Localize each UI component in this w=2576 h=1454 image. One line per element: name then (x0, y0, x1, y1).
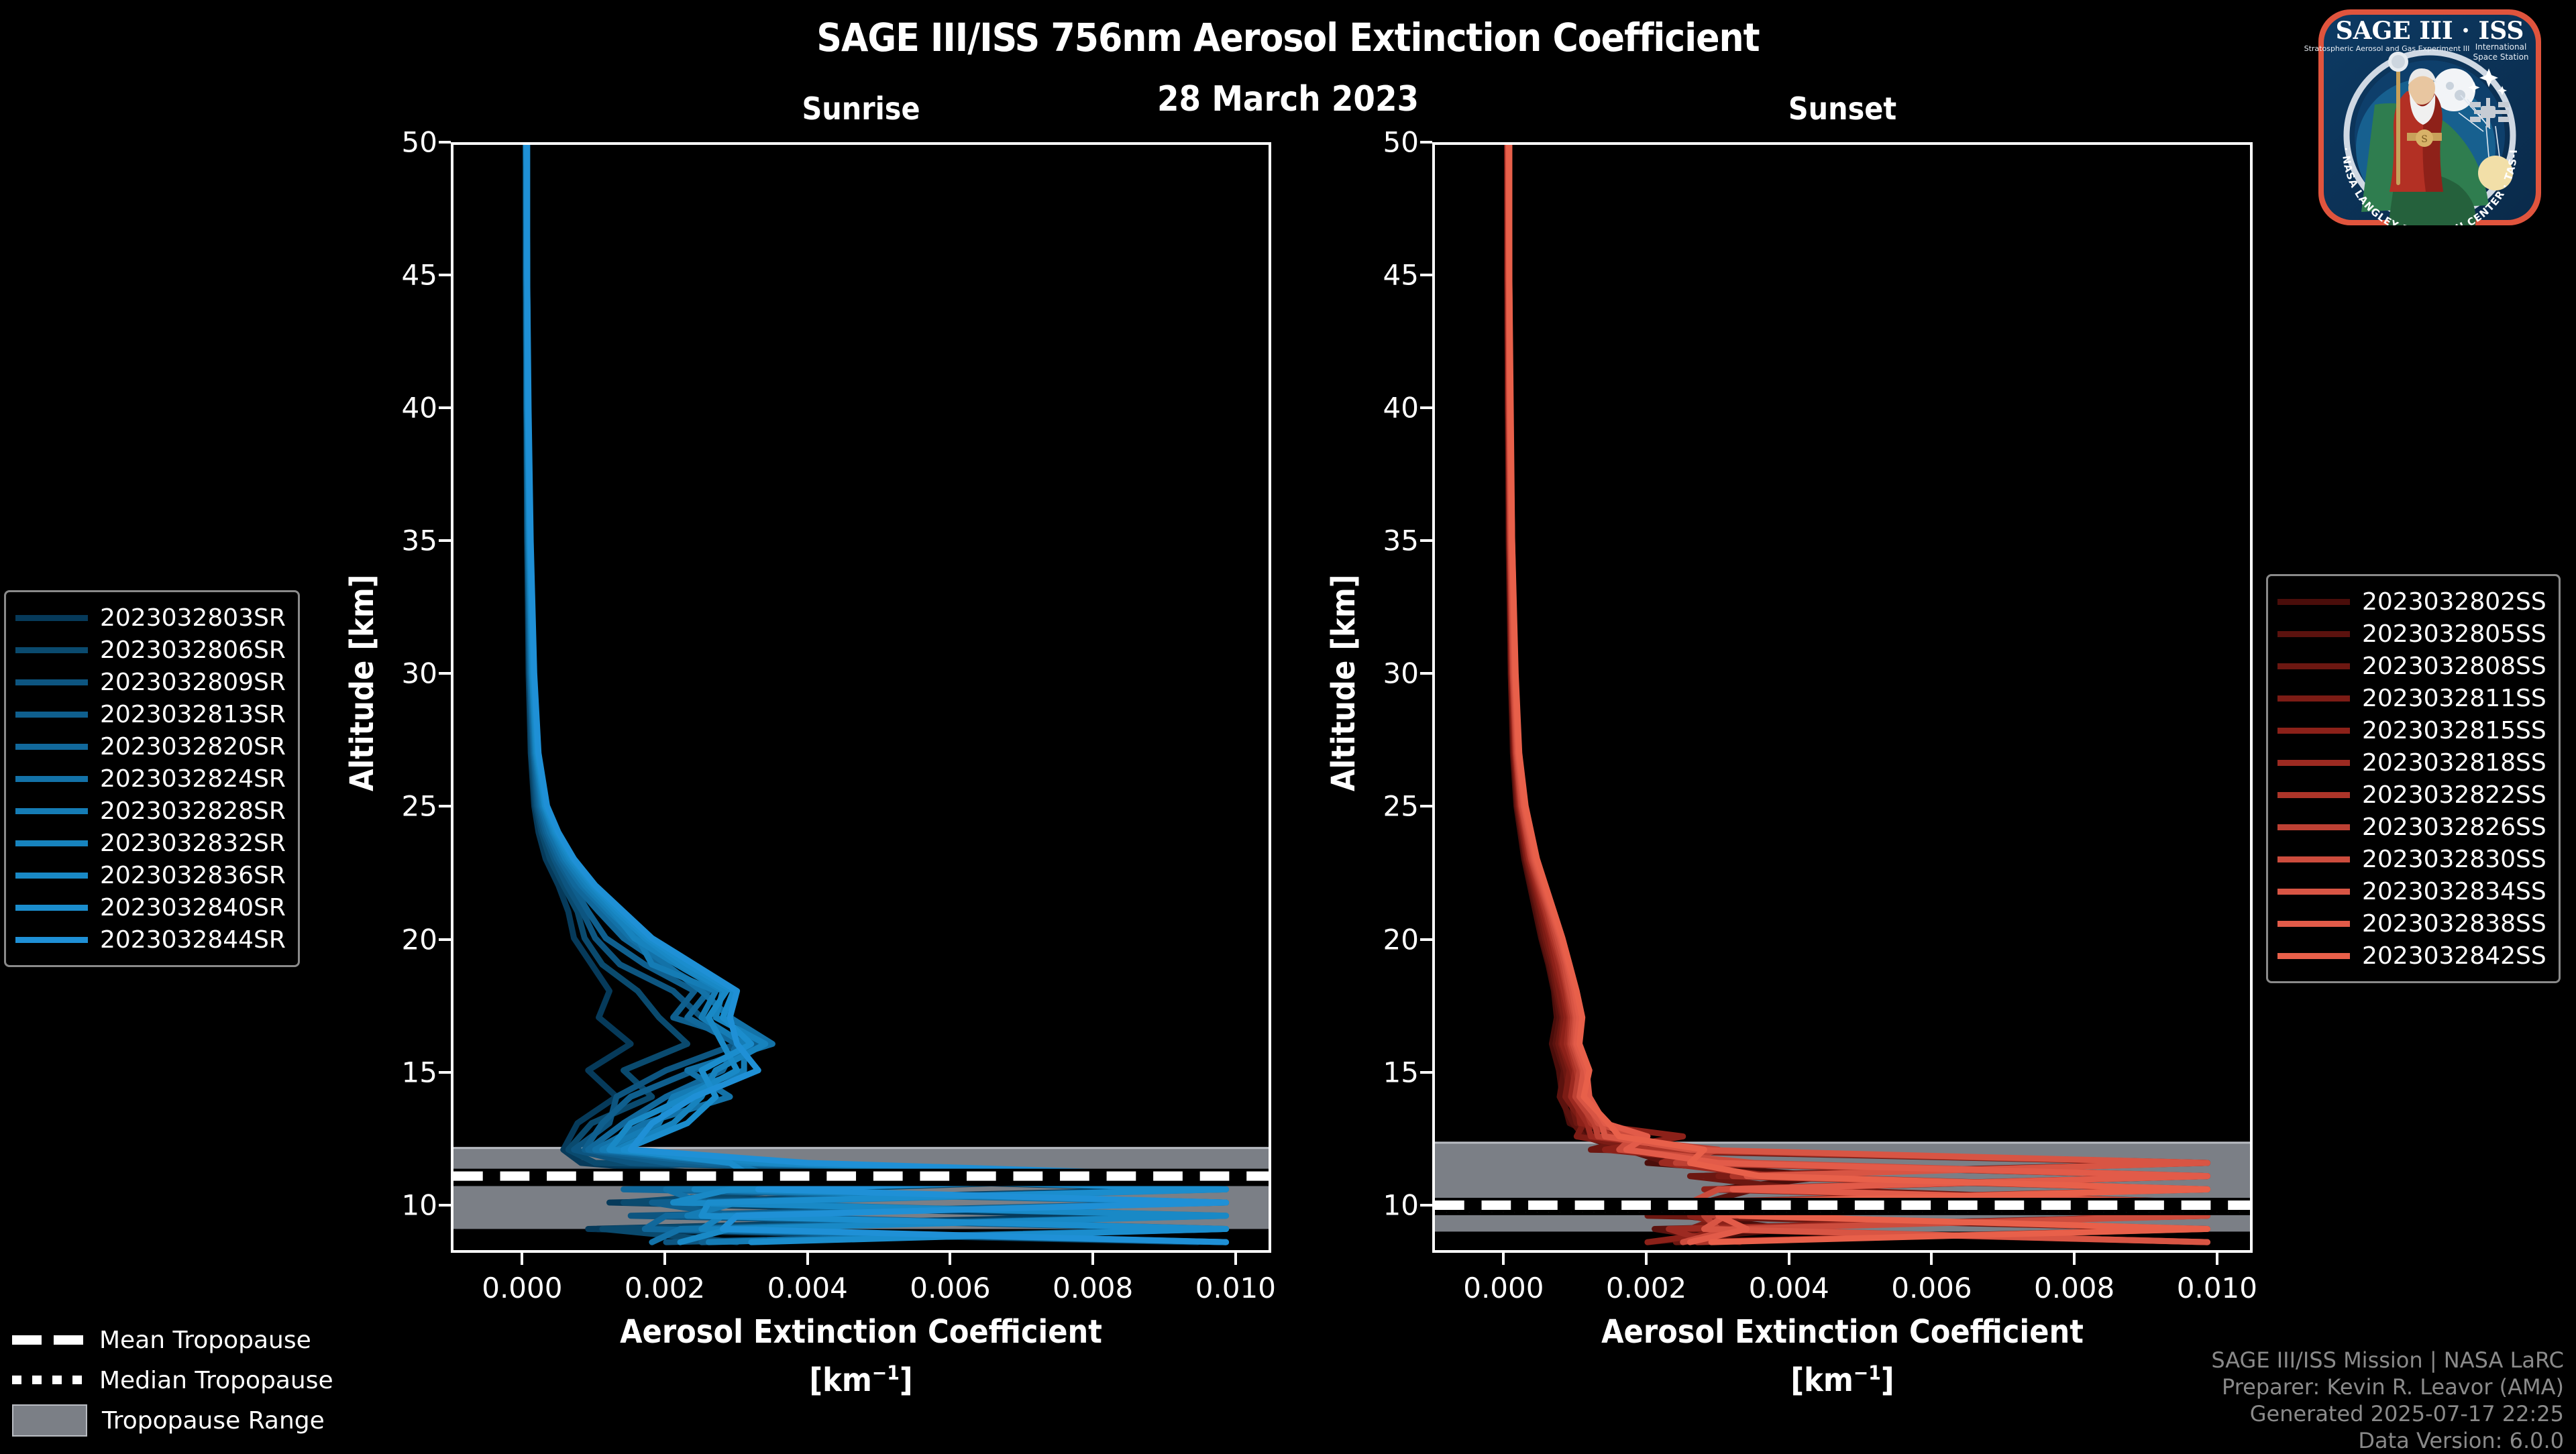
svg-text:S: S (2421, 134, 2428, 145)
legend-item[interactable]: 2023032836SR (15, 859, 286, 891)
y-tick-label-sunrise: 10 (357, 1188, 437, 1221)
x-tick-label-sunrise: 0.004 (767, 1272, 848, 1304)
legend-item-tropopause-range: Tropopause Range (12, 1400, 333, 1441)
y-tick-mark-sunrise (439, 672, 451, 675)
legend-item[interactable]: 2023032811SS (2277, 682, 2546, 714)
legend-label-median-tropopause: Median Tropopause (99, 1367, 333, 1394)
profile-line (1509, 145, 2208, 1242)
x-tick-mark-sunrise (949, 1253, 951, 1265)
y-tick-mark-sunset (1420, 672, 1432, 675)
legend-item-mean-tropopause: Mean Tropopause (12, 1320, 333, 1360)
y-tick-mark-sunrise (439, 938, 451, 941)
x-tick-mark-sunset (1502, 1253, 1505, 1265)
legend-color-swatch (15, 712, 88, 718)
x-tick-label-sunset: 0.008 (2034, 1272, 2114, 1304)
x-tick-label-sunset: 0.002 (1606, 1272, 1686, 1304)
legend-item-label: 2023032824SR (100, 765, 286, 793)
x-tick-mark-sunset (1645, 1253, 1648, 1265)
sunrise-profile-svg (453, 145, 1269, 1250)
legend-item[interactable]: 2023032834SS (2277, 875, 2546, 907)
legend-color-swatch (2277, 792, 2350, 798)
profile-line (1507, 145, 2208, 1242)
legend-item[interactable]: 2023032842SS (2277, 940, 2546, 972)
legend-item-label: 2023032834SS (2362, 878, 2546, 905)
y-tick-label-sunrise: 25 (357, 790, 437, 823)
legend-item-label: 2023032832SR (100, 830, 286, 857)
y-tick-mark-sunset (1420, 274, 1432, 276)
legend-item-label: 2023032802SS (2362, 588, 2546, 616)
x-unit-exponent: −1 (1854, 1361, 1881, 1385)
x-axis-unit-sunrise: [km−1] (451, 1361, 1271, 1399)
legend-item[interactable]: 2023032820SR (15, 730, 286, 763)
legend-color-swatch (2277, 695, 2350, 702)
profile-line (526, 145, 1198, 1242)
legend-sunset[interactable]: 2023032802SS2023032805SS2023032808SS2023… (2266, 574, 2561, 983)
mission-patch-svg: S SAGE III · ISS Stratospheric Aerosol a… (2294, 4, 2565, 225)
x-tick-label-sunrise: 0.008 (1053, 1272, 1133, 1304)
legend-item-label: 2023032811SS (2362, 685, 2546, 712)
legend-color-swatch (2277, 631, 2350, 637)
y-tick-label-sunset: 50 (1338, 126, 1419, 159)
y-tick-mark-sunrise (439, 406, 451, 409)
legend-item[interactable]: 2023032828SR (15, 795, 286, 827)
legend-item[interactable]: 2023032830SS (2277, 843, 2546, 875)
x-tick-mark-sunset (2073, 1253, 2076, 1265)
y-tick-label-sunrise: 20 (357, 923, 437, 956)
y-tick-label-sunset: 15 (1338, 1056, 1419, 1088)
panel-title-sunset: Sunset (1432, 91, 2253, 127)
x-unit-exponent: −1 (872, 1361, 900, 1385)
profile-line (1508, 145, 2208, 1242)
x-unit-suffix: ] (900, 1361, 913, 1399)
legend-color-swatch (2277, 889, 2350, 895)
legend-item-label: 2023032820SR (100, 733, 286, 761)
x-tick-mark-sunset (2216, 1253, 2218, 1265)
legend-item-label: 2023032813SR (100, 701, 286, 728)
legend-color-swatch (2277, 953, 2350, 959)
profile-line (1508, 145, 2208, 1242)
x-tick-label-sunrise: 0.002 (625, 1272, 705, 1304)
x-tick-label-sunset: 0.004 (1749, 1272, 1829, 1304)
x-axis-title-sunset: Aerosol Extinction Coefficient (1432, 1313, 2253, 1351)
logo-title: SAGE III · ISS (2336, 17, 2524, 45)
y-tick-label-sunrise: 40 (357, 392, 437, 425)
legend-item[interactable]: 2023032803SR (15, 602, 286, 634)
legend-item-label: 2023032840SR (100, 894, 286, 921)
legend-item-label: 2023032826SS (2362, 814, 2546, 841)
x-unit-suffix: ] (1881, 1361, 1894, 1399)
legend-item[interactable]: 2023032832SR (15, 827, 286, 859)
y-tick-mark-sunrise (439, 1071, 451, 1074)
legend-color-swatch (2277, 921, 2350, 927)
y-axis-title-sunset: Altitude [km] (1325, 575, 1362, 791)
legend-color-swatch (2277, 856, 2350, 862)
profile-line (1509, 145, 2208, 1242)
x-tick-label-sunrise: 0.000 (482, 1272, 562, 1304)
x-tick-mark-sunrise (1234, 1253, 1237, 1265)
profile-line (1508, 145, 2208, 1242)
legend-item[interactable]: 2023032840SR (15, 891, 286, 924)
x-tick-label-sunset: 0.006 (1891, 1272, 1972, 1304)
y-tick-mark-sunset (1420, 1071, 1432, 1074)
legend-color-swatch (15, 873, 88, 879)
logo-subtitle-left: Stratospheric Aerosol and Gas Experiment… (2304, 44, 2470, 53)
legend-item[interactable]: 2023032844SR (15, 924, 286, 956)
page-title: SAGE III/ISS 756nm Aerosol Extinction Co… (0, 15, 2576, 60)
legend-item[interactable]: 2023032806SR (15, 634, 286, 666)
range-band-icon (12, 1404, 87, 1437)
legend-item-label: 2023032808SS (2362, 653, 2546, 680)
y-tick-mark-sunset (1420, 1204, 1432, 1207)
x-tick-label-sunrise: 0.010 (1195, 1272, 1276, 1304)
legend-color-swatch (15, 808, 88, 814)
legend-item-median-tropopause: Median Tropopause (12, 1360, 333, 1400)
x-tick-mark-sunset (1788, 1253, 1790, 1265)
legend-item[interactable]: 2023032809SR (15, 666, 286, 698)
legend-item-label: 2023032836SR (100, 862, 286, 889)
x-unit-prefix: [km (809, 1361, 871, 1399)
legend-item-label: 2023032828SR (100, 797, 286, 825)
logo-subtitle-right-1: International (2475, 42, 2527, 52)
profile-line (1509, 145, 2208, 1242)
legend-color-swatch (2277, 599, 2350, 605)
y-tick-mark-sunrise (439, 539, 451, 542)
legend-color-swatch (2277, 760, 2350, 766)
y-tick-mark-sunset (1420, 938, 1432, 941)
dashed-line-icon (12, 1335, 85, 1345)
x-tick-mark-sunrise (806, 1253, 809, 1265)
y-tick-mark-sunrise (439, 274, 451, 276)
legend-color-swatch (15, 615, 88, 621)
plot-area-sunrise (451, 142, 1271, 1253)
x-tick-label-sunset: 0.010 (2177, 1272, 2257, 1304)
x-unit-prefix: [km (1790, 1361, 1853, 1399)
legend-item[interactable]: 2023032815SS (2277, 714, 2546, 746)
y-tick-label-sunset: 45 (1338, 259, 1419, 292)
x-tick-mark-sunrise (1091, 1253, 1094, 1265)
x-tick-label-sunset: 0.000 (1463, 1272, 1544, 1304)
x-tick-label-sunrise: 0.006 (910, 1272, 990, 1304)
legend-item[interactable]: 2023032808SS (2277, 650, 2546, 682)
legend-item-label: 2023032815SS (2362, 717, 2546, 744)
dotted-line-icon (12, 1376, 85, 1385)
legend-item[interactable]: 2023032824SR (15, 763, 286, 795)
y-tick-mark-sunrise (439, 805, 451, 807)
x-tick-mark-sunrise (521, 1253, 523, 1265)
y-tick-label-sunset: 35 (1338, 524, 1419, 557)
legend-color-swatch (2277, 824, 2350, 830)
legend-item[interactable]: 2023032822SS (2277, 779, 2546, 811)
footer-line-data-version: Data Version: 6.0.0 (2211, 1427, 2564, 1454)
profile-line (1508, 145, 2208, 1242)
x-tick-mark-sunrise (663, 1253, 666, 1265)
legend-item-label: 2023032844SR (100, 926, 286, 954)
profile-line (1507, 145, 2208, 1242)
footer-line-generated: Generated 2025-07-17 22:25 (2211, 1400, 2564, 1427)
profile-line (1509, 145, 2208, 1242)
profile-line (1507, 145, 2208, 1242)
legend-label-mean-tropopause: Mean Tropopause (99, 1327, 311, 1354)
legend-item-label: 2023032818SS (2362, 749, 2546, 777)
legend-item[interactable]: 2023032818SS (2277, 746, 2546, 779)
legend-item-label: 2023032809SR (100, 669, 286, 696)
legend-item-label: 2023032803SR (100, 604, 286, 632)
legend-item-label: 2023032842SS (2362, 942, 2546, 970)
legend-color-swatch (15, 840, 88, 846)
legend-item-label: 2023032805SS (2362, 620, 2546, 648)
legend-item[interactable]: 2023032838SS (2277, 907, 2546, 940)
legend-color-swatch (15, 647, 88, 653)
legend-color-swatch (15, 937, 88, 943)
x-axis-title-sunrise: Aerosol Extinction Coefficient (451, 1313, 1271, 1351)
plot-area-sunset (1432, 142, 2253, 1253)
legend-item-label: 2023032806SR (100, 636, 286, 664)
y-tick-label-sunset: 25 (1338, 790, 1419, 823)
y-tick-label-sunset: 20 (1338, 923, 1419, 956)
legend-item[interactable]: 2023032802SS (2277, 585, 2546, 618)
x-tick-mark-sunset (1930, 1253, 1933, 1265)
legend-color-swatch (15, 905, 88, 911)
legend-color-swatch (15, 776, 88, 782)
legend-label-tropopause-range: Tropopause Range (102, 1407, 325, 1435)
y-tick-mark-sunset (1420, 805, 1432, 807)
sage-iii-iss-mission-patch-logo: S SAGE III · ISS Stratospheric Aerosol a… (2294, 4, 2565, 225)
legend-item-label: 2023032822SS (2362, 781, 2546, 809)
legend-color-swatch (15, 744, 88, 750)
y-tick-label-sunrise: 50 (357, 126, 437, 159)
legend-item-label: 2023032838SS (2362, 910, 2546, 938)
y-tick-label-sunrise: 15 (357, 1056, 437, 1088)
y-tick-label-sunrise: 45 (357, 259, 437, 292)
legend-item[interactable]: 2023032805SS (2277, 618, 2546, 650)
tropopause-range-top-edge (1435, 1141, 2250, 1143)
footer-line-mission: SAGE III/ISS Mission | NASA LaRC (2211, 1347, 2564, 1374)
y-tick-mark-sunset (1420, 141, 1432, 144)
legend-color-swatch (2277, 728, 2350, 734)
panel-title-sunrise: Sunrise (451, 91, 1271, 127)
legend-item[interactable]: 2023032826SS (2277, 811, 2546, 843)
y-tick-label-sunset: 40 (1338, 392, 1419, 425)
logo-subtitle-right-2: Space Station (2473, 52, 2528, 62)
legend-item-label: 2023032830SS (2362, 846, 2546, 873)
legend-color-swatch (15, 679, 88, 685)
footer-credits: SAGE III/ISS Mission | NASA LaRC Prepare… (2211, 1347, 2564, 1454)
y-tick-mark-sunrise (439, 141, 451, 144)
y-axis-title-sunrise: Altitude [km] (343, 575, 381, 791)
y-tick-label-sunrise: 35 (357, 524, 437, 557)
profile-line (1507, 145, 2208, 1242)
footer-line-preparer: Preparer: Kevin R. Leavor (AMA) (2211, 1374, 2564, 1400)
y-tick-mark-sunset (1420, 539, 1432, 542)
y-tick-label-sunset: 10 (1338, 1188, 1419, 1221)
y-tick-mark-sunrise (439, 1204, 451, 1207)
y-tick-mark-sunset (1420, 406, 1432, 409)
legend-item[interactable]: 2023032813SR (15, 698, 286, 730)
x-axis-unit-sunset: [km−1] (1432, 1361, 2253, 1399)
sunset-profile-svg (1435, 145, 2250, 1250)
legend-tropopause: Mean Tropopause Median Tropopause Tropop… (12, 1320, 333, 1441)
legend-sunrise[interactable]: 2023032803SR2023032806SR2023032809SR2023… (4, 590, 300, 967)
legend-color-swatch (2277, 663, 2350, 669)
profile-line (526, 145, 1219, 1242)
